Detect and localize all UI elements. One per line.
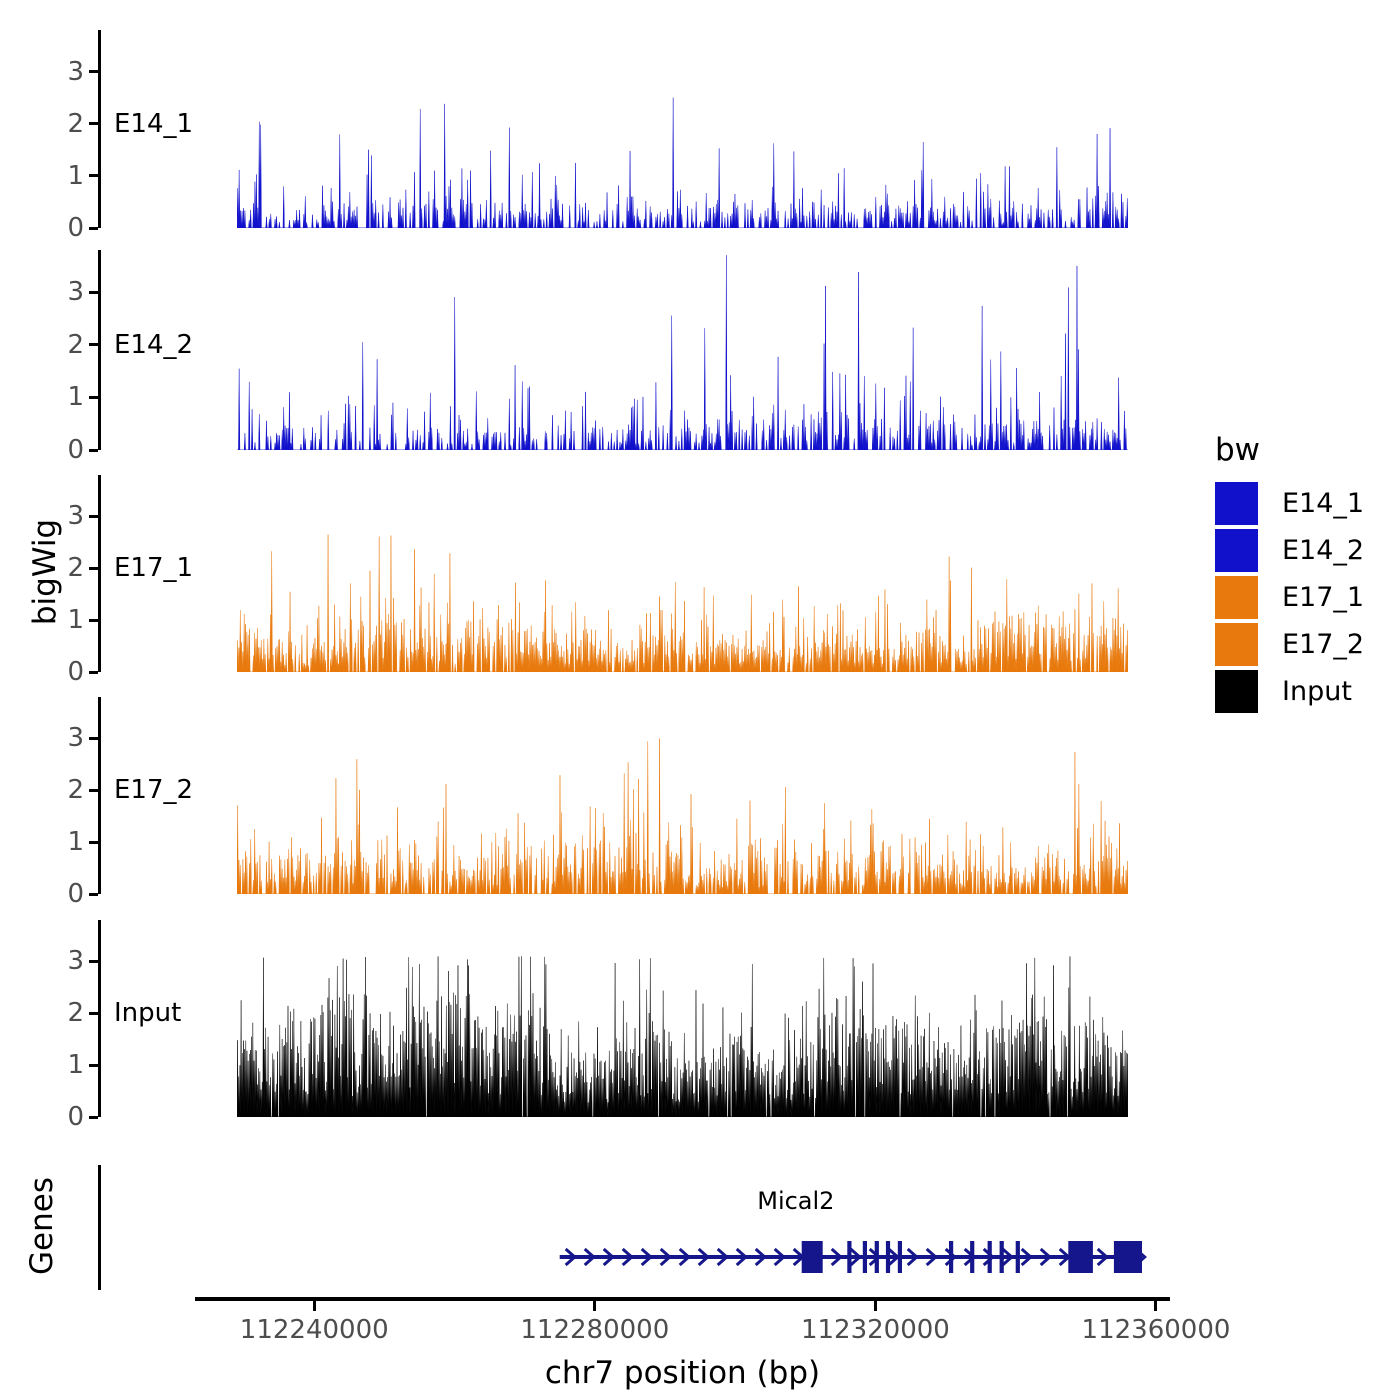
coverage-area-e14_1 xyxy=(237,30,1128,228)
legend-item-e17_2[interactable]: E17_2 xyxy=(1215,621,1364,668)
y-tick-label: 3 xyxy=(67,946,84,976)
legend-item-input[interactable]: Input xyxy=(1215,668,1364,715)
x-tick-label: 112320000 xyxy=(801,1315,950,1345)
y-tick xyxy=(89,619,98,622)
y-tick-label: 2 xyxy=(67,553,84,583)
x-tick xyxy=(1154,1301,1157,1311)
y-axis-line xyxy=(98,920,101,1117)
track-strip-label-input: Input xyxy=(114,998,181,1028)
y-tick xyxy=(89,343,98,346)
y-tick xyxy=(89,122,98,125)
coverage-area-e17_1 xyxy=(237,475,1128,672)
y-axis-line xyxy=(98,30,101,228)
y-tick xyxy=(89,70,98,73)
y-tick xyxy=(89,396,98,399)
track-panel-input: 0123Input xyxy=(98,920,1180,1117)
x-tick-label: 112240000 xyxy=(240,1315,389,1345)
legend-swatch-e14_1 xyxy=(1215,482,1258,525)
y-tick-label: 2 xyxy=(67,998,84,1028)
y-tick xyxy=(89,567,98,570)
gene-track-panel: Mical2 xyxy=(98,1165,1180,1290)
y-tick-label: 1 xyxy=(67,161,84,191)
x-axis-line xyxy=(195,1297,1170,1301)
y-tick xyxy=(89,515,98,518)
y-tick-label: 1 xyxy=(67,382,84,412)
legend-label: E14_2 xyxy=(1282,535,1364,566)
x-axis-label: chr7 position (bp) xyxy=(0,1355,1365,1391)
track-strip-label-e17_1: E17_1 xyxy=(114,553,193,583)
legend-label: E14_1 xyxy=(1282,488,1364,519)
gene-model[interactable] xyxy=(98,1165,1180,1294)
track-strip-label-e14_1: E14_1 xyxy=(114,109,193,139)
track-panel-e14_1: 0123E14_1 xyxy=(98,30,1180,228)
y-tick xyxy=(89,1116,98,1119)
legend-label: Input xyxy=(1282,676,1352,707)
y-tick-label: 0 xyxy=(67,1102,84,1132)
y-tick-label: 3 xyxy=(67,277,84,307)
legend-item-e17_1[interactable]: E17_1 xyxy=(1215,574,1364,621)
y-tick xyxy=(89,174,98,177)
track-strip-label-e14_2: E14_2 xyxy=(114,330,193,360)
legend-swatch-e14_2 xyxy=(1215,529,1258,572)
y-tick xyxy=(89,1012,98,1015)
y-axis-line xyxy=(98,250,101,450)
y-tick xyxy=(89,737,98,740)
track-panel-e17_2: 0123E17_2 xyxy=(98,697,1180,894)
y-tick xyxy=(89,449,98,452)
y-tick-label: 2 xyxy=(67,109,84,139)
legend-label: E17_2 xyxy=(1282,629,1364,660)
legend-title: bw xyxy=(1215,432,1364,468)
track-strip-label-e17_2: E17_2 xyxy=(114,775,193,805)
x-tick-label: 112280000 xyxy=(520,1315,669,1345)
y-tick xyxy=(89,789,98,792)
legend-label: E17_1 xyxy=(1282,582,1364,613)
y-tick-label: 3 xyxy=(67,501,84,531)
y-tick xyxy=(89,227,98,230)
legend-swatch-e17_1 xyxy=(1215,576,1258,619)
coverage-area-e14_2 xyxy=(237,250,1128,450)
y-tick-label: 3 xyxy=(67,57,84,87)
coverage-area-e17_2 xyxy=(237,697,1128,894)
legend-swatch-e17_2 xyxy=(1215,623,1258,666)
y-tick xyxy=(89,893,98,896)
x-tick xyxy=(313,1301,316,1311)
y-tick-label: 2 xyxy=(67,775,84,805)
y-tick xyxy=(89,1064,98,1067)
y-tick-label: 1 xyxy=(67,827,84,857)
legend-items: E14_1E14_2E17_1E17_2Input xyxy=(1215,480,1364,715)
y-tick-label: 0 xyxy=(67,213,84,243)
coverage-area-input xyxy=(237,920,1128,1117)
y-tick-label: 1 xyxy=(67,605,84,635)
y-tick-label: 0 xyxy=(67,879,84,909)
track-panel-e17_1: 0123E17_1 xyxy=(98,475,1180,672)
y-tick xyxy=(89,671,98,674)
legend-item-e14_2[interactable]: E14_2 xyxy=(1215,527,1364,574)
y-tick xyxy=(89,960,98,963)
y-tick xyxy=(89,291,98,294)
y-tick-label: 0 xyxy=(67,657,84,687)
y-axis-label-genes: Genes xyxy=(24,1136,60,1316)
legend-swatch-input xyxy=(1215,670,1258,713)
track-panel-e14_2: 0123E14_2 xyxy=(98,250,1180,450)
y-tick-label: 2 xyxy=(67,330,84,360)
y-axis-line xyxy=(98,697,101,894)
y-tick-label: 1 xyxy=(67,1050,84,1080)
y-tick-label: 3 xyxy=(67,723,84,753)
y-tick-label: 0 xyxy=(67,435,84,465)
legend-item-e14_1[interactable]: E14_1 xyxy=(1215,480,1364,527)
x-tick xyxy=(874,1301,877,1311)
y-axis-line xyxy=(98,475,101,672)
y-tick xyxy=(89,841,98,844)
x-tick-label: 112360000 xyxy=(1082,1315,1231,1345)
y-axis-label-bigwig: bigWig xyxy=(27,482,63,662)
x-tick xyxy=(593,1301,596,1311)
legend: bw E14_1E14_2E17_1E17_2Input xyxy=(1215,432,1364,715)
